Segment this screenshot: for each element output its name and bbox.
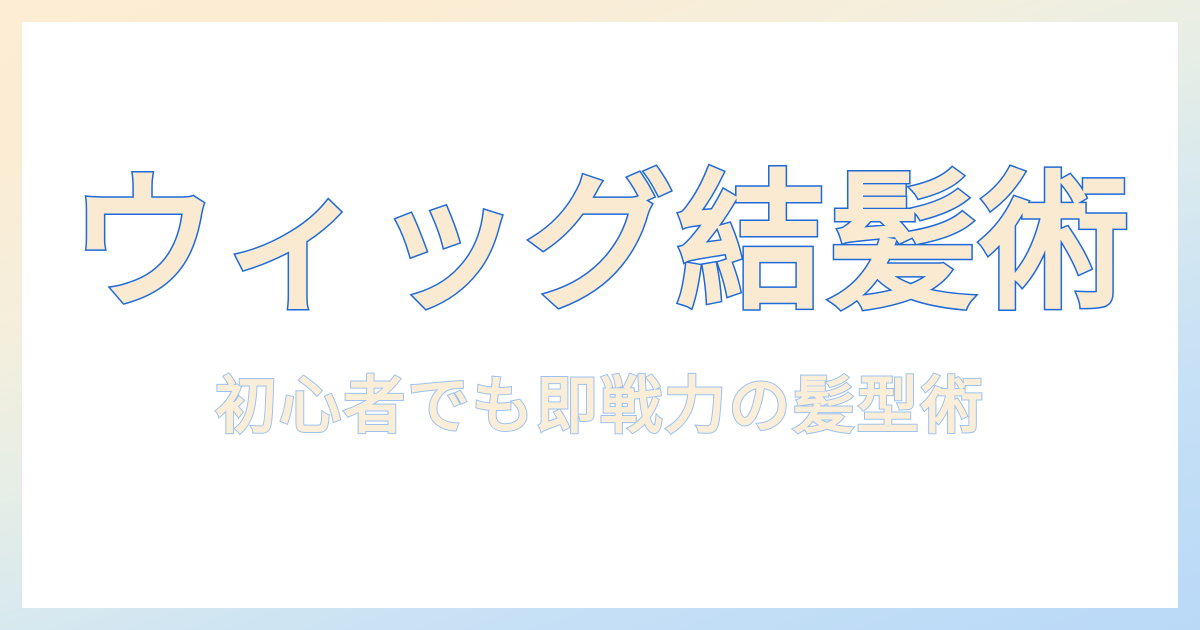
banner-card: ウィッグ結髪術 初心者でも即戦力の髪型術: [22, 22, 1178, 608]
page-title: ウィッグ結髪術: [69, 160, 1132, 328]
banner-content: ウィッグ結髪術 初心者でも即戦力の髪型術: [22, 160, 1178, 441]
page-subtitle: 初心者でも即戦力の髪型術: [215, 370, 985, 441]
banner-frame: ウィッグ結髪術 初心者でも即戦力の髪型術: [0, 0, 1200, 630]
